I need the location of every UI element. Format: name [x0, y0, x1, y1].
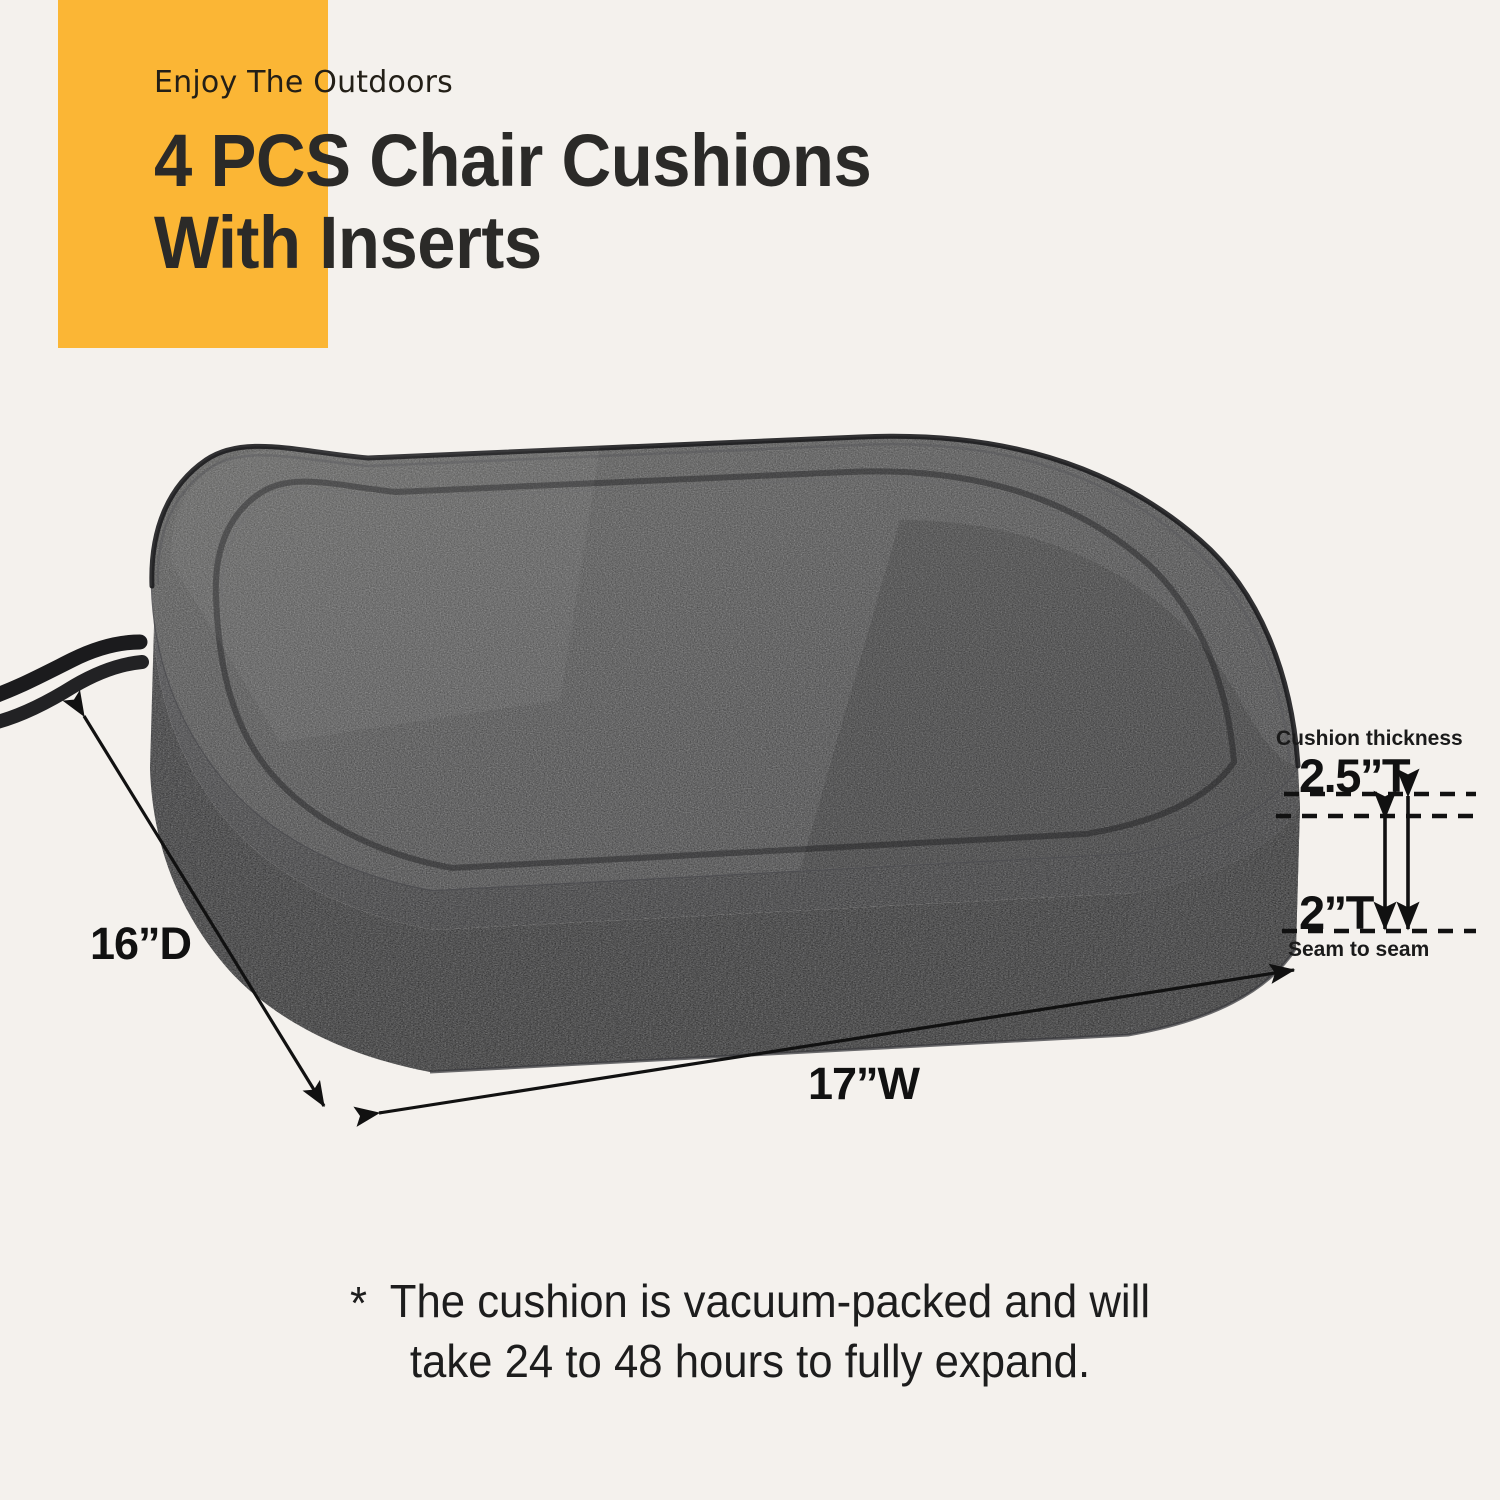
asterisk-icon: *	[350, 1277, 390, 1329]
page-title-line-2: With Inserts	[154, 202, 1084, 284]
width-label: 17”W	[808, 1058, 919, 1110]
product-infographic: Enjoy The Outdoors 4 PCS Chair Cushions …	[0, 0, 1500, 1500]
header: Enjoy The Outdoors 4 PCS Chair Cushions …	[154, 68, 1154, 284]
cushion-tie-straps	[0, 642, 142, 726]
cushion-body	[150, 436, 1300, 1072]
depth-label: 16”D	[90, 918, 191, 970]
seam-thickness-label: 2”T	[1299, 885, 1373, 940]
page-title-line-1: 4 PCS Chair Cushions	[154, 120, 1084, 202]
cushion-thickness-caption: Cushion thickness	[1276, 727, 1463, 751]
total-thickness-label: 2.5”T	[1299, 748, 1409, 803]
vacuum-pack-note: *The cushion is vacuum-packed and will t…	[38, 1272, 1463, 1390]
eyebrow-text: Enjoy The Outdoors	[154, 68, 1154, 98]
vacuum-pack-note-line-1: The cushion is vacuum-packed and will	[390, 1275, 1150, 1327]
depth-dimension-arrow	[84, 716, 324, 1106]
seam-to-seam-caption: Seam to seam	[1288, 938, 1429, 962]
vacuum-pack-note-line-2: take 24 to 48 hours to fully expand.	[38, 1332, 1463, 1390]
